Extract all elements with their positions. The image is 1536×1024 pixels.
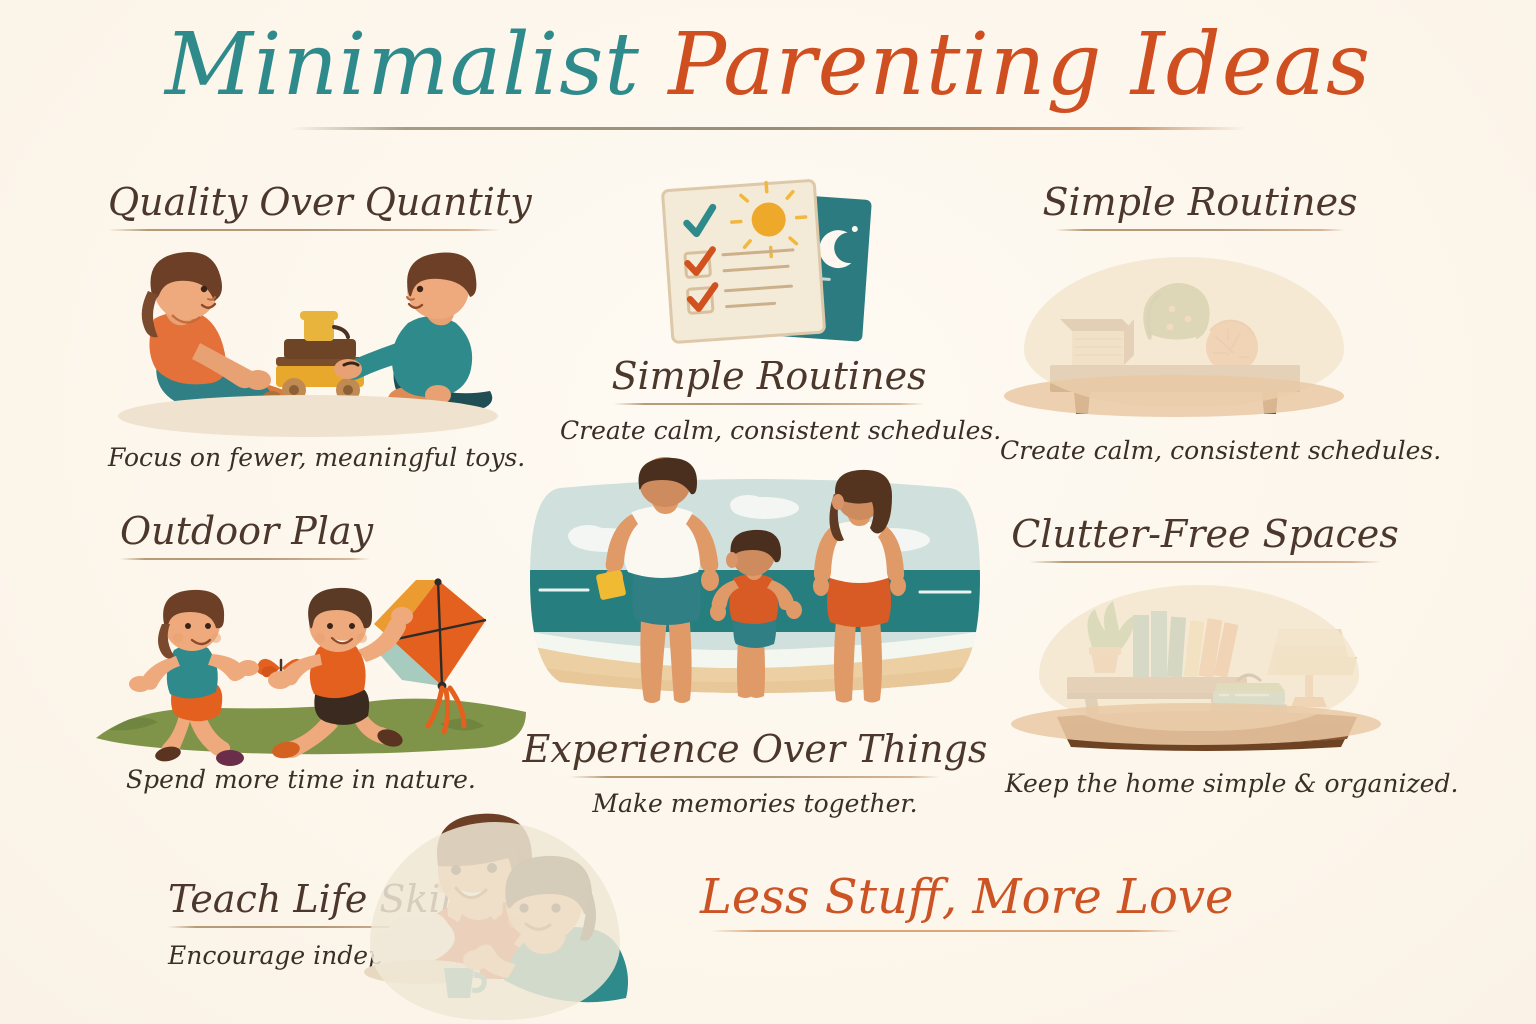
beach-scene-svg [520,478,990,728]
title-word-parenting-ideas: Parenting Ideas [668,15,1371,115]
poster-header: Minimalist Parenting Ideas [0,18,1536,130]
card-quality-over-quantity: Quality Over Quantity [108,183,508,471]
heading-divider [1055,229,1345,231]
heading-divider [1029,561,1381,563]
illustration-family-beach [520,478,990,728]
illustration-shelf-and-table [1005,577,1405,762]
card-caption: Create calm, consistent schedules. [1000,437,1400,465]
card-simple-routines-checklist: Simple Routines Create calm, consistent … [560,178,978,444]
card-experience-over-things: Experience Over Things Make memories tog… [520,478,990,817]
card-clutter-free-spaces: Clutter-Free Spaces [1005,515,1405,797]
heading-divider [120,558,370,560]
rug-ellipse [118,395,498,437]
heading-divider [614,403,924,405]
tagline-divider [710,930,1180,932]
card-heading: Simple Routines [560,357,978,397]
card-heading: Experience Over Things [520,730,990,770]
infographic-poster: Minimalist Parenting Ideas Quality Over … [0,0,1536,1024]
illustration-children-playing-toy [108,247,508,432]
card-heading: Simple Routines [1000,183,1400,223]
floor-ellipse [1004,375,1344,417]
card-caption: Focus on fewer, meaningful toys. [108,444,508,472]
title-word-minimalist: Minimalist [165,15,668,115]
card-heading: Clutter-Free Spaces [1005,515,1405,555]
card-caption: Create calm, consistent schedules. [560,417,978,445]
checklist-svg [560,178,978,353]
card-caption: Keep the home simple & organized. [1005,770,1405,798]
card-heading: Quality Over Quantity [108,183,508,223]
illustration-checklist-cards [560,178,978,353]
checklist-card [662,179,824,342]
poster-tagline-block: Less Stuff, More Love [700,872,1190,932]
outdoor-play-svg [120,568,520,768]
illustration-children-kite [120,568,520,768]
card-heading: Outdoor Play [120,512,500,552]
card-simple-routines-shelf: Simple Routines [1000,183,1400,464]
floor-ellipse [1011,703,1381,745]
illustration-bench-with-plant [1000,247,1400,427]
heading-divider [570,776,940,778]
title-divider [291,127,1246,130]
illustration-mother-child-dishes [352,812,642,1024]
tagline-text: Less Stuff, More Love [700,872,1190,922]
card-caption: Spend more time in nature. [120,766,500,794]
page-title: Minimalist Parenting Ideas [0,18,1536,113]
card-outdoor-play: Outdoor Play [120,512,500,793]
heading-divider [108,229,500,231]
